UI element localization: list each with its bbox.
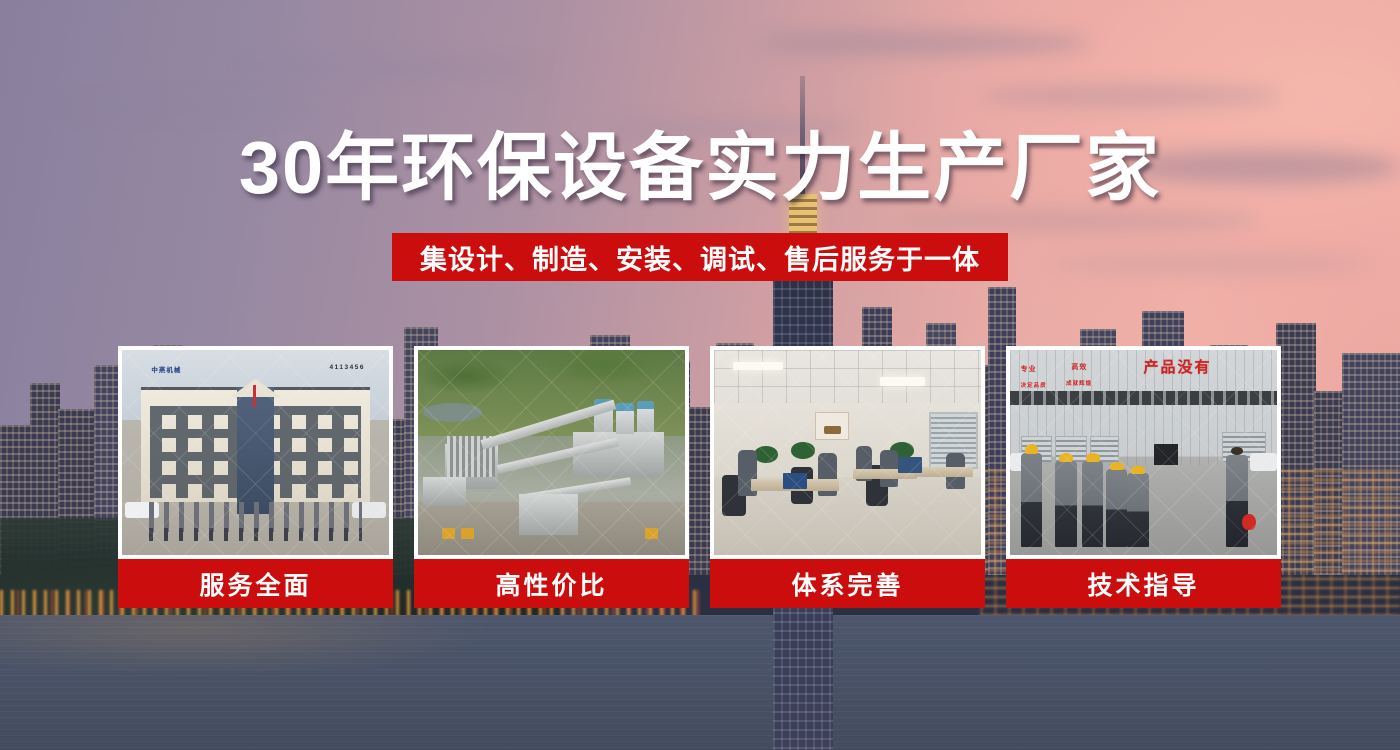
subtitle-banner: 集设计、制造、安装、调试、售后服务于一体: [392, 233, 1008, 281]
factory-slogan-c: 高效: [1071, 362, 1087, 372]
card-caption-bar: 服务全面: [118, 559, 393, 608]
card-caption-text: 高性价比: [495, 566, 607, 602]
factory-slogan-b: 决定品质: [1021, 381, 1047, 389]
factory-slogan-d: 成就辉煌: [1066, 379, 1092, 387]
building-phone-text: 4113456: [330, 364, 365, 371]
factory-slogan-a: 专业: [1021, 364, 1037, 374]
card-caption-text: 技术指导: [1087, 566, 1199, 602]
river-water: [0, 615, 1400, 750]
card-caption-bar: 高性价比: [414, 559, 689, 608]
worker-training-photo: 产品没有 高效 成就辉煌 专业 决定品质: [1010, 350, 1277, 555]
card-caption-bar: 体系完善: [710, 559, 985, 608]
office-building-photo: 中燕机械 4113456: [122, 350, 389, 555]
feature-card-system[interactable]: 体系完善: [710, 346, 985, 608]
cloud-band: [240, 60, 540, 76]
red-helmet: [1242, 514, 1255, 530]
feature-card-guidance[interactable]: 产品没有 高效 成就辉煌 专业 决定品质: [1006, 346, 1281, 608]
building-sign-text: 中燕机械: [151, 364, 181, 374]
cloud-band: [60, 100, 340, 114]
page-title: 30年环保设备实力生产厂家: [0, 128, 1400, 208]
card-caption-text: 服务全面: [199, 566, 311, 602]
card-caption-bar: 技术指导: [1006, 559, 1281, 608]
cloud-band: [980, 86, 1280, 106]
production-plant-photo: [418, 350, 685, 555]
factory-slogan-main: 产品没有: [1144, 356, 1212, 377]
office-workspace-photo: [714, 350, 981, 555]
card-caption-text: 体系完善: [791, 566, 903, 602]
feature-card-service[interactable]: 中燕机械 4113456 服务全面: [118, 346, 393, 608]
cloud-band: [900, 210, 1260, 232]
feature-card-list: 中燕机械 4113456 服务全面: [118, 346, 1284, 608]
cloud-band: [760, 30, 1090, 56]
feature-card-value[interactable]: 高性价比: [414, 346, 689, 608]
hero-banner: 30年环保设备实力生产厂家 集设计、制造、安装、调试、售后服务于一体 中燕机械 …: [0, 0, 1400, 750]
subtitle-text: 集设计、制造、安装、调试、售后服务于一体: [420, 238, 980, 277]
